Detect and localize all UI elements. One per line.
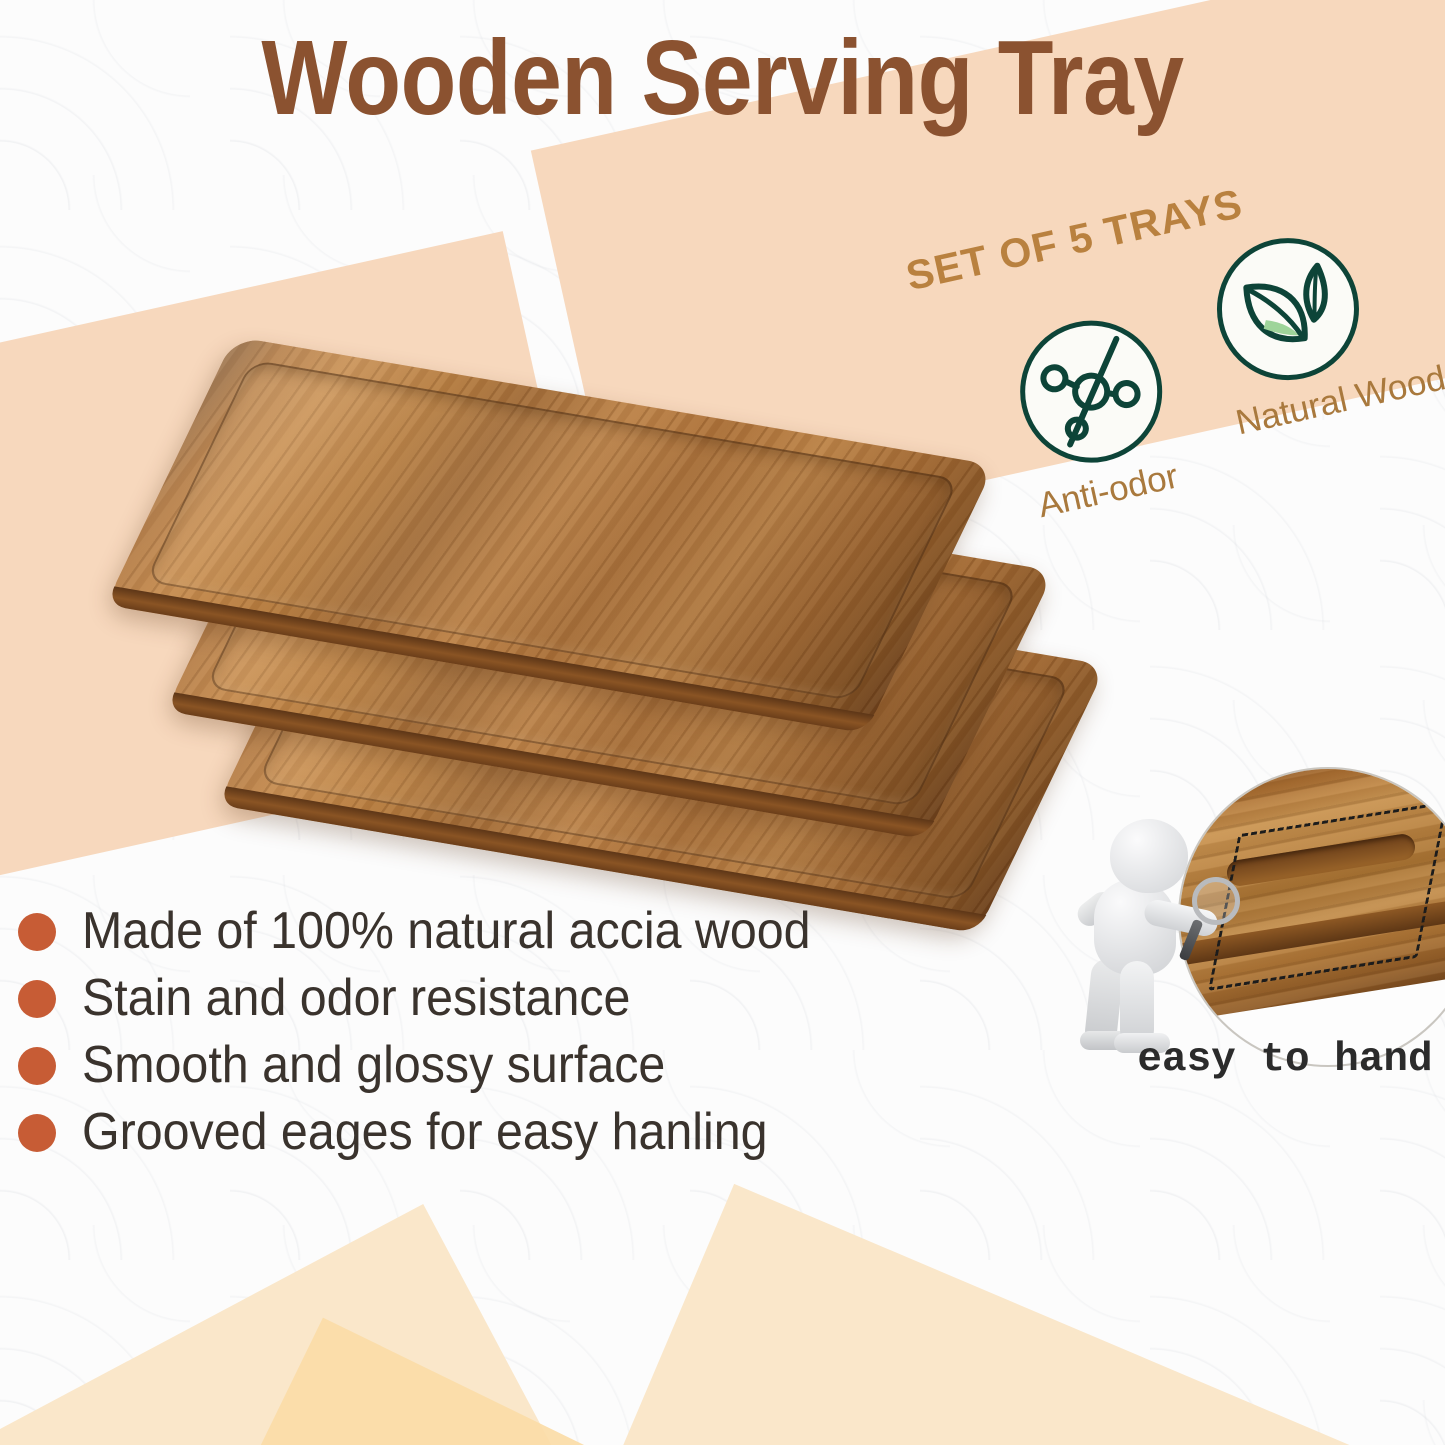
bullet-dot-icon bbox=[18, 1114, 56, 1152]
bullet-dot-icon bbox=[18, 1047, 56, 1085]
list-item: Stain and odor resistance bbox=[18, 972, 1048, 1025]
feature-list: Made of 100% natural accia wood Stain an… bbox=[18, 905, 1048, 1173]
magnifier-glass-icon bbox=[1192, 877, 1240, 925]
mascot-figure bbox=[1072, 819, 1212, 1034]
badge-natural-wood: Natural Wood bbox=[1203, 210, 1445, 443]
list-item-label: Grooved eages for easy hanling bbox=[82, 1106, 768, 1159]
list-item-label: Stain and odor resistance bbox=[82, 972, 630, 1025]
list-item: Made of 100% natural accia wood bbox=[18, 905, 1048, 958]
page-title: Wooden Serving Tray bbox=[101, 18, 1344, 139]
background-band-bottom-right bbox=[445, 1184, 1445, 1445]
bullet-dot-icon bbox=[18, 980, 56, 1018]
list-item-label: Smooth and glossy surface bbox=[82, 1039, 665, 1092]
inset-caption: easy to hand bbox=[1120, 1037, 1445, 1083]
product-image-tray-stack bbox=[0, 390, 990, 810]
list-item-label: Made of 100% natural accia wood bbox=[82, 905, 811, 958]
product-infographic: Wooden Serving Tray bbox=[0, 0, 1445, 1445]
list-item: Grooved eages for easy hanling bbox=[18, 1106, 1048, 1159]
figure-head bbox=[1110, 819, 1188, 893]
list-item: Smooth and glossy surface bbox=[18, 1039, 1048, 1092]
badge-label: Anti-odor bbox=[1030, 455, 1187, 527]
badge-circle bbox=[1203, 224, 1372, 393]
anti-odor-molecule-icon bbox=[1029, 330, 1153, 454]
natural-wood-leaf-icon bbox=[1226, 247, 1350, 371]
badge-circle bbox=[1006, 307, 1175, 476]
magnified-detail-inset: easy to hand bbox=[1060, 775, 1445, 1085]
bullet-dot-icon bbox=[18, 913, 56, 951]
badge-anti-odor: Anti-odor bbox=[1006, 307, 1186, 525]
